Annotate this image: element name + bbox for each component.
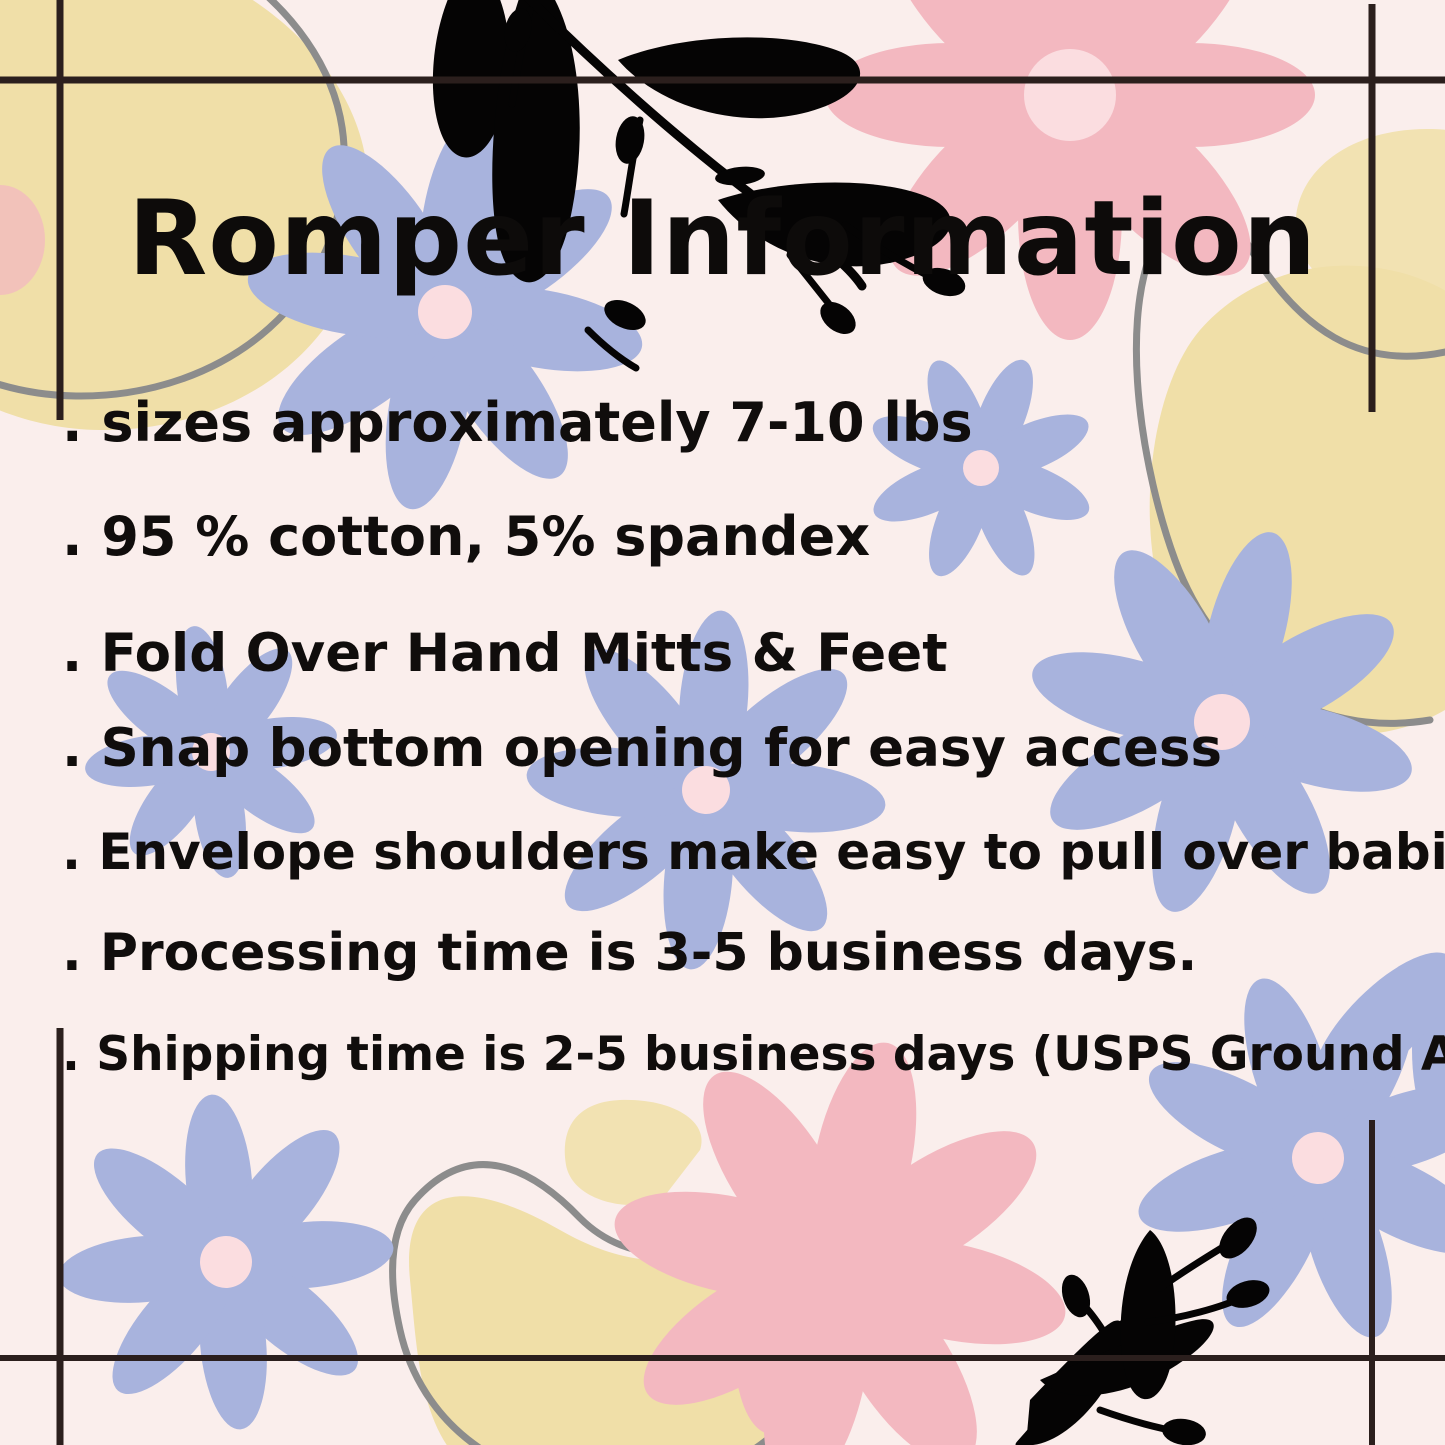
list-item: . Snap bottom opening for easy access <box>62 722 1442 775</box>
list-item: . 95 % cotton, 5% spandex <box>62 510 1442 564</box>
list-item: . Fold Over Hand Mitts & Feet <box>62 627 1442 680</box>
list-item: . Shipping time is 2-5 business days (US… <box>62 1031 1442 1078</box>
list-item: . sizes approximately 7-10 lbs <box>62 396 1442 450</box>
list-item: . Processing time is 3-5 business days. <box>62 927 1442 979</box>
romper-information-graphic: Romper Information . sizes approximately… <box>0 0 1445 1445</box>
list-item: . Envelope shoulders make easy to pull o… <box>62 827 1442 877</box>
page-title: Romper Information <box>0 188 1445 291</box>
info-bullet-list: . sizes approximately 7-10 lbs . 95 % co… <box>62 396 1442 1078</box>
